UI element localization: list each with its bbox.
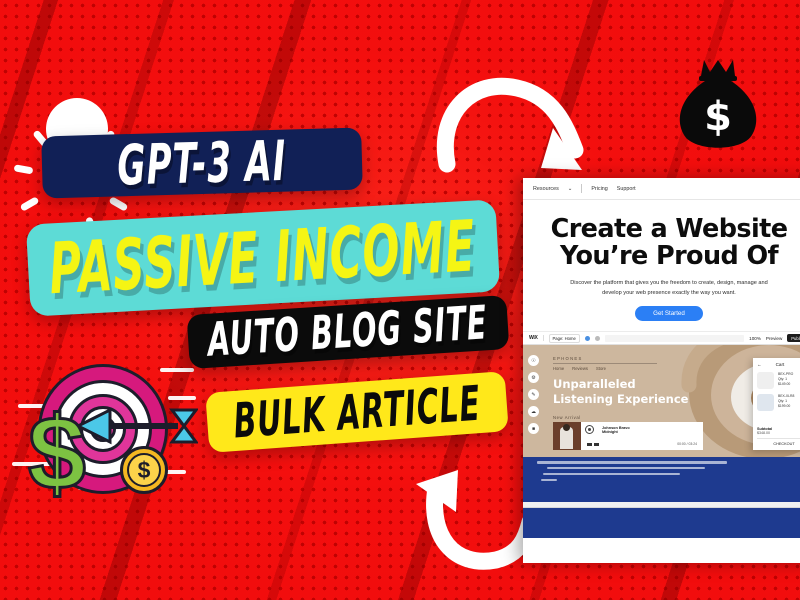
website-screenshot-panel: Resources ⌄ Pricing Support Create a Web… — [523, 178, 800, 563]
editor-tool-icon[interactable] — [585, 336, 590, 341]
apps-icon[interactable]: ■ — [528, 423, 539, 434]
cart-item-thumb — [757, 372, 774, 389]
code-line — [537, 461, 727, 463]
sunburst-ray — [71, 118, 78, 137]
dollar-sign-icon: $ — [28, 402, 86, 506]
cart-title: Cart — [776, 362, 785, 367]
cart-header: ← Cart — [757, 362, 800, 367]
money-bag-icon: $ — [672, 56, 764, 154]
canvas-brand-label: EPHONES — [553, 356, 583, 361]
wix-logo: WiX — [529, 335, 544, 341]
publish-button[interactable]: Publish — [787, 334, 800, 342]
cart-subtotal-value: $348.00 — [757, 431, 800, 435]
hero-title: Create a Website You’re Proud Of — [531, 216, 800, 271]
cart-item: BEX-XLR8 Qty: 1 $199.00 — [757, 394, 800, 411]
editor-tool-icon-2[interactable] — [595, 336, 600, 341]
media-icon[interactable]: ☁ — [528, 406, 539, 417]
get-started-button[interactable]: Get Started — [635, 306, 703, 321]
svg-text:$: $ — [704, 94, 732, 140]
canvas-nav-store[interactable]: Store — [596, 366, 606, 371]
code-line — [547, 467, 705, 469]
player-track-artist: Midnight — [602, 430, 698, 434]
cart-item-price: $199.00 — [778, 404, 794, 409]
nav-divider — [581, 184, 582, 193]
settings-icon[interactable]: ⚙ — [528, 372, 539, 383]
new-arrival-label: New Arrival — [553, 415, 581, 420]
checkout-button[interactable]: CHECKOUT — [757, 438, 800, 446]
canvas-heading-line1: Unparalleled — [553, 377, 636, 391]
editor-toolbar: WiX Page: Home 100% Preview Publish — [523, 332, 800, 345]
player-disc-icon — [585, 425, 594, 434]
hero-title-line1: Create a Website — [551, 214, 788, 244]
coin-icon: $ — [120, 446, 168, 494]
website-top-nav: Resources ⌄ Pricing Support — [523, 178, 800, 200]
hero-section: Create a Website You’re Proud Of Discove… — [523, 200, 800, 332]
headline-text-passive: PASSIVE INCOME — [48, 205, 479, 310]
code-panel — [523, 457, 800, 502]
zoom-level-label: 100% — [749, 336, 761, 341]
curved-arrow-down-right-icon — [425, 72, 605, 184]
cart-item: BEX-PRO Qty: 1 $149.00 — [757, 372, 800, 389]
hero-subtitle: Discover the platform that gives you the… — [563, 278, 775, 299]
player-controls[interactable] — [587, 443, 599, 446]
canvas-heading: Unparalleled Listening Experience — [553, 377, 688, 406]
code-line — [543, 473, 680, 475]
headline-text-gpt: GPT-3 AI — [117, 128, 288, 197]
home-icon[interactable]: ☉ — [528, 355, 539, 366]
preview-button[interactable]: Preview — [766, 336, 782, 341]
chevron-down-icon[interactable]: ⌄ — [568, 186, 573, 192]
music-player-card: Johnson Bravo Midnight 00:00 / 03:24 — [553, 422, 703, 450]
canvas-nav-reviews[interactable]: Reviews — [572, 366, 588, 371]
wix-editor-mockup: WiX Page: Home 100% Preview Publish ☉ ⚙ … — [523, 332, 800, 532]
nav-item-resources[interactable]: Resources — [533, 186, 559, 192]
nav-item-support[interactable]: Support — [617, 186, 636, 192]
editor-side-icon-rail: ☉ ⚙ ✎ ☁ ■ — [528, 355, 539, 434]
player-time: 00:00 / 03:24 — [677, 442, 697, 446]
canvas-rule — [553, 363, 657, 364]
cart-item-thumb — [757, 394, 774, 411]
page-selector-chip[interactable]: Page: Home — [549, 334, 580, 343]
cart-panel: ← Cart BEX-PRO Qty: 1 $149.00 BEX-XLR8 — [753, 358, 800, 450]
headline-banner-gpt: GPT-3 AI — [41, 128, 363, 199]
cart-footer: Subtotal $348.00 CHECKOUT — [757, 427, 800, 446]
canvas-heading-line2: Listening Experience — [553, 392, 688, 406]
sunburst-ray — [14, 164, 34, 174]
editor-canvas: ☉ ⚙ ✎ ☁ ■ EPHONES Home Reviews Store Unp… — [523, 345, 800, 457]
player-thumbnail — [553, 422, 581, 450]
target-dartboard-group: $ $ — [8, 362, 198, 512]
cart-close-icon[interactable]: ← — [757, 362, 762, 367]
coin-symbol: $ — [127, 453, 161, 487]
code-panel-bottom — [523, 508, 800, 538]
cart-item-text: BEX-XLR8 Qty: 1 $199.00 — [778, 394, 794, 409]
nav-item-pricing[interactable]: Pricing — [591, 186, 607, 192]
target-arrow-icon — [76, 406, 198, 448]
canvas-nav-home[interactable]: Home — [553, 366, 564, 371]
hero-title-line2: You’re Proud Of — [560, 241, 778, 271]
canvas-nav: Home Reviews Store — [553, 366, 606, 371]
cart-item-price: $149.00 — [778, 382, 793, 387]
editor-url-bar[interactable] — [605, 335, 744, 342]
cart-item-text: BEX-PRO Qty: 1 $149.00 — [778, 372, 793, 387]
edit-icon[interactable]: ✎ — [528, 389, 539, 400]
code-line — [541, 479, 557, 481]
